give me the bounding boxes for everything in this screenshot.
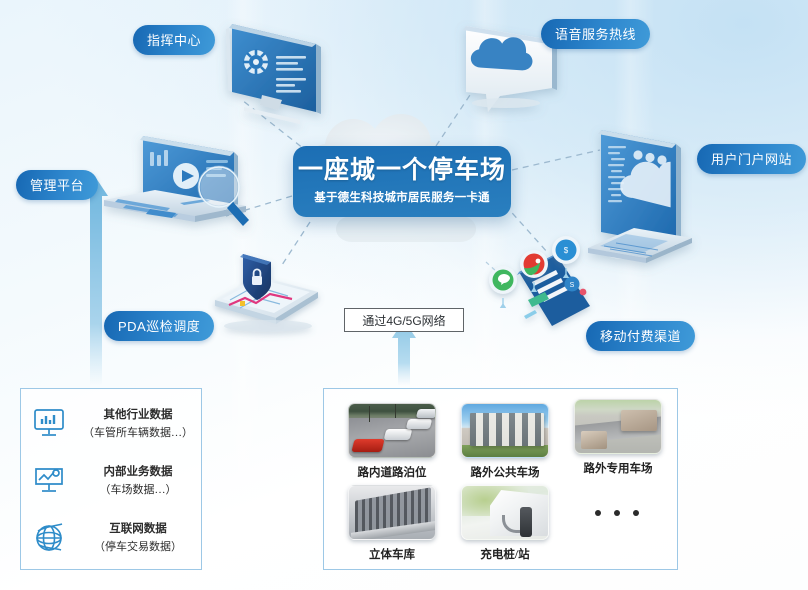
scene-thumb-public-lot[interactable]: 路外公共车场 [461,403,549,480]
data-row-title: 其他行业数据 [77,406,199,422]
scene-caption: 路外公共车场 [461,464,549,480]
scene-thumb-ev-charging[interactable]: 充电桩/站 [461,485,549,562]
central-banner: 一座城一个停车场 基于德生科技城市居民服务一卡通 [293,146,511,217]
data-row-title: 互联网数据 [77,520,199,536]
isometric-tablet-map-shield-lock [215,254,318,332]
data-row-other-industry[interactable]: 其他行业数据 （车管所车辆数据…） [21,397,203,449]
label-user-portal[interactable]: 用户门户网站 [697,144,806,174]
parking-scenes-panel: 路内道路泊位 路外公共车场 路外专用车场 立体车库 充电桩/站 [323,388,678,570]
data-row-subtitle: （停车交易数据） [77,538,199,554]
monitor-bar-chart-icon [21,408,77,438]
globe-network-icon [21,521,77,553]
banner-subtitle: 基于德生科技城市居民服务一卡通 [314,189,490,205]
svg-text:S: S [570,282,575,289]
data-row-subtitle: （车场数据…） [77,481,199,497]
scene-caption: 路外专用车场 [574,460,662,476]
isometric-monitor-gear [226,24,321,124]
label-management-platform[interactable]: 管理平台 [16,170,98,200]
label-pda-patrol[interactable]: PDA巡检调度 [104,311,214,341]
scene-caption: 充电桩/站 [461,546,549,562]
isometric-desktop-keyboard-cloud [588,130,692,263]
scene-thumb-dedicated-lot[interactable]: 路外专用车场 [574,399,662,476]
network-box: 通过4G/5G网络 [344,308,464,332]
scene-thumb-mechanical-garage[interactable]: 立体车库 [348,485,436,562]
infographic-canvas: S $ [0,0,808,590]
data-row-internal-business[interactable]: 内部业务数据 （车场数据…） [21,454,203,506]
label-voice-hotline[interactable]: 语音服务热线 [541,19,650,49]
scene-caption: 路内道路泊位 [348,464,436,480]
banner-title: 一座城一个停车场 [298,158,506,184]
photo-public-parking-building [461,403,549,458]
data-sources-panel: 其他行业数据 （车管所车辆数据…） 内部业务数据 （车场数据…） [20,388,202,570]
monitor-line-chart-icon [21,465,77,495]
photo-dedicated-parking-lot [574,399,662,454]
isometric-laptop-play-magnifier [104,136,249,226]
photo-mechanical-garage [348,485,436,540]
label-mobile-payment[interactable]: 移动付费渠道 [586,321,695,351]
photo-on-street-parking [348,403,436,458]
scene-caption: 立体车库 [348,546,436,562]
label-command-center[interactable]: 指挥中心 [133,25,215,55]
data-row-title: 内部业务数据 [77,463,199,479]
more-scenes-indicator [595,510,639,516]
svg-text:$: $ [564,246,569,255]
scene-thumb-on-street[interactable]: 路内道路泊位 [348,403,436,480]
data-row-subtitle: （车管所车辆数据…） [77,424,199,440]
photo-ev-charging-station [461,485,549,540]
data-row-internet[interactable]: 互联网数据 （停车交易数据） [21,511,203,563]
left-up-arrow [84,178,108,386]
